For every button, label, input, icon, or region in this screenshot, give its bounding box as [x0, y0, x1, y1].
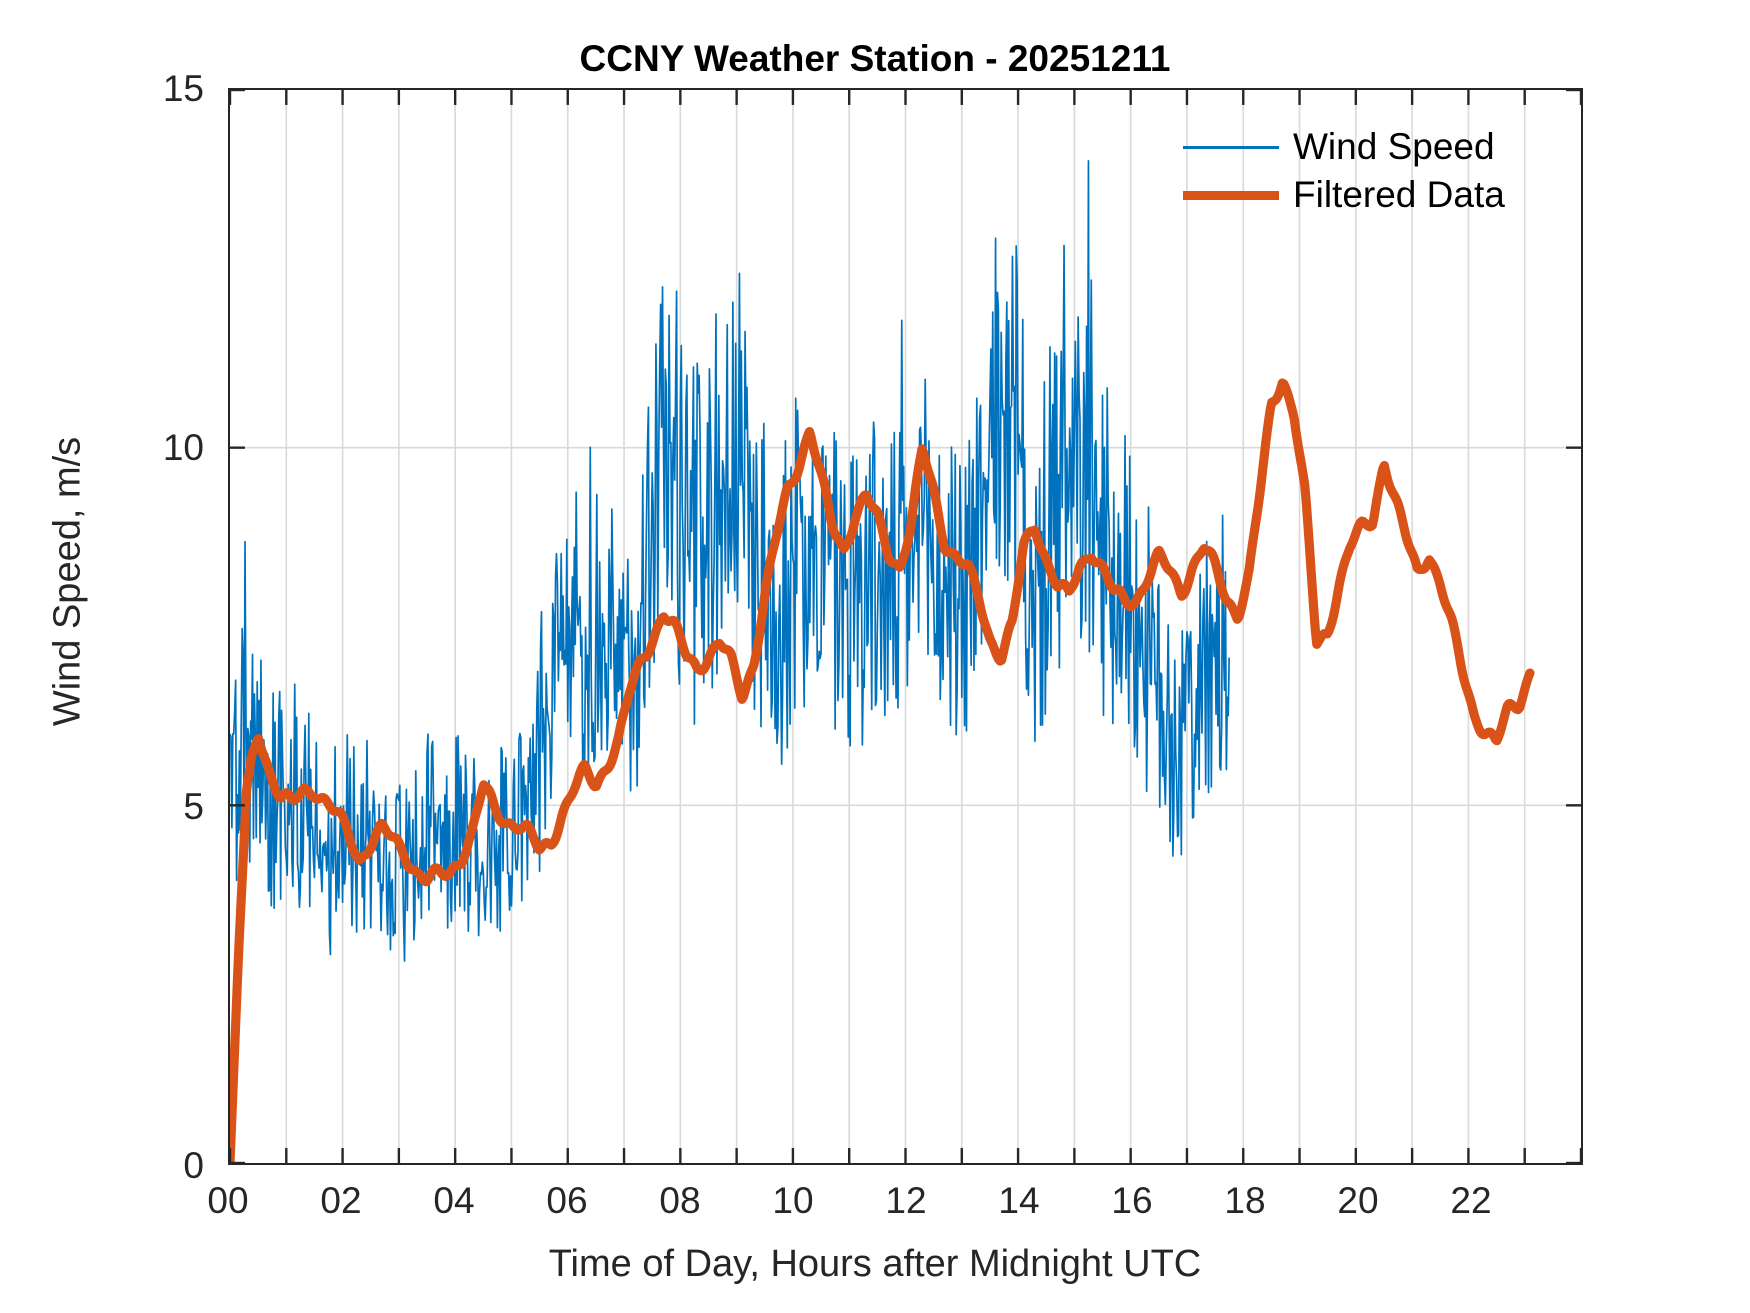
- legend-item-filtered-data[interactable]: Filtered Data: [1183, 171, 1513, 219]
- series-filtered-data: [230, 383, 1530, 1163]
- xtick-label-16: 16: [1072, 1182, 1192, 1219]
- x-axis-label: Time of Day, Hours after Midnight UTC: [0, 1243, 1750, 1286]
- plot-svg: [230, 90, 1581, 1163]
- figure-canvas: CCNY Weather Station - 20251211 15 10 5 …: [0, 0, 1750, 1313]
- ytick-label-15: 15: [84, 70, 204, 107]
- line-swatch-icon: [1183, 186, 1279, 204]
- plot-area: [228, 88, 1583, 1165]
- legend-label-filtered-data: Filtered Data: [1279, 174, 1505, 216]
- xtick-label-08: 08: [620, 1182, 740, 1219]
- page-title: CCNY Weather Station - 20251211: [0, 38, 1750, 80]
- xtick-label-02: 02: [281, 1182, 401, 1219]
- ytick-label-0: 0: [84, 1147, 204, 1184]
- xtick-label-06: 06: [507, 1182, 627, 1219]
- xtick-label-00: 00: [168, 1182, 288, 1219]
- xtick-label-20: 20: [1298, 1182, 1418, 1219]
- xtick-label-12: 12: [846, 1182, 966, 1219]
- xtick-label-22: 22: [1411, 1182, 1531, 1219]
- y-axis-label: Wind Speed, m/s: [47, 302, 90, 862]
- xtick-label-10: 10: [733, 1182, 853, 1219]
- ytick-label-10: 10: [84, 429, 204, 466]
- legend-label-wind-speed: Wind Speed: [1279, 126, 1495, 168]
- legend: Wind Speed Filtered Data: [1183, 123, 1513, 219]
- xtick-label-04: 04: [394, 1182, 514, 1219]
- xtick-label-18: 18: [1185, 1182, 1305, 1219]
- xtick-label-14: 14: [959, 1182, 1079, 1219]
- ytick-label-5: 5: [84, 788, 204, 825]
- legend-item-wind-speed[interactable]: Wind Speed: [1183, 123, 1513, 171]
- line-swatch-icon: [1183, 138, 1279, 156]
- gridlines: [230, 90, 1581, 1163]
